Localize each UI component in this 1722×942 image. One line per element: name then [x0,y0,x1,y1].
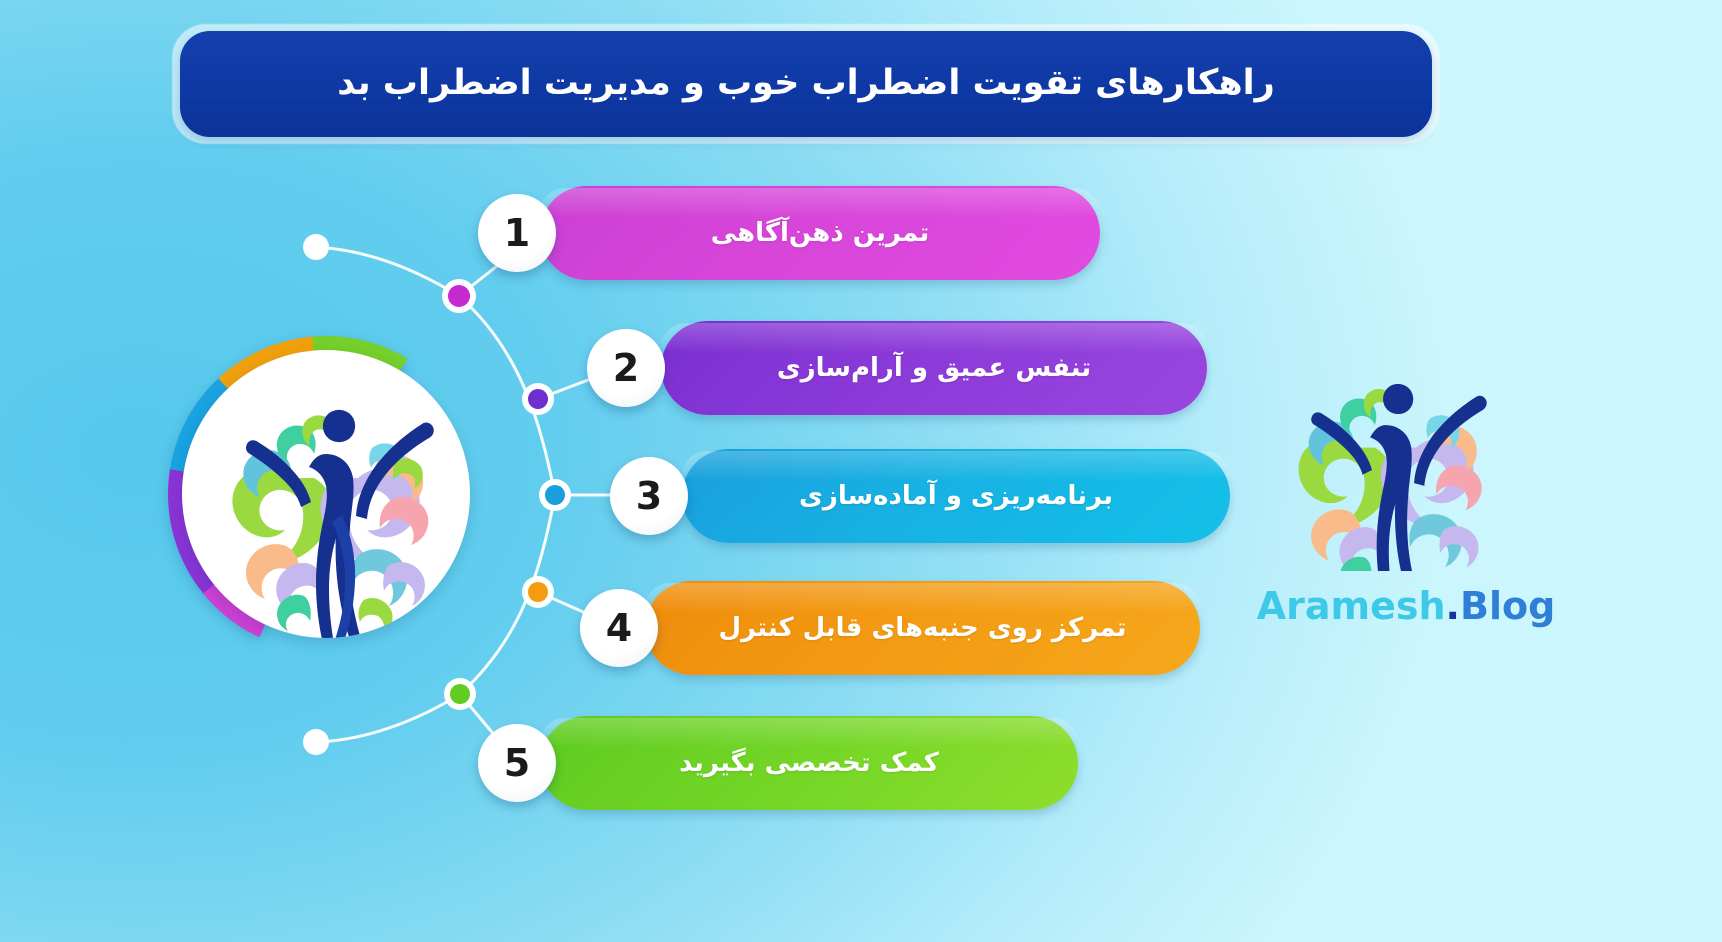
brand-name-part2: Blog [1460,584,1555,628]
step-number-3: 3 [610,457,688,535]
node-5 [444,678,476,710]
brand-name-dot: . [1446,584,1460,628]
infographic-canvas: راهکارهای تقویت اضطراب خوب و مدیریت اضطر… [0,0,1722,942]
step-number-5-value: 5 [504,741,530,785]
step-bar-2[interactable]: تنفس عمیق و آرام‌سازی [661,321,1207,415]
brand-name: Aramesh.Blog [1246,584,1566,628]
step-number-1-value: 1 [504,211,530,255]
step-label-3: برنامه‌ریزی و آماده‌سازی [799,481,1113,511]
brand-block: Aramesh.Blog [1246,356,1566,626]
endpoint-dot-top [303,234,329,260]
node-4 [522,576,554,608]
step-bar-4[interactable]: تمرکز روی جنبه‌های قابل کنترل [645,581,1200,675]
step-number-1: 1 [478,194,556,272]
brand-logo-icon [1246,356,1526,571]
page-title: راهکارهای تقویت اضطراب خوب و مدیریت اضطر… [297,62,1314,106]
step-label-4: تمرکز روی جنبه‌های قابل کنترل [719,613,1127,643]
brand-name-part1: Aramesh [1257,584,1446,628]
step-number-4: 4 [580,589,658,667]
step-bar-3[interactable]: برنامه‌ریزی و آماده‌سازی [682,449,1230,543]
person-tree-logo-icon [182,350,470,638]
step-bar-1[interactable]: تمرین ذهن‌آگاهی [540,186,1100,280]
step-row-1[interactable]: تمرین ذهن‌آگاهی 1 [478,186,1100,280]
step-label-5: کمک تخصصی بگیرید [679,748,939,778]
arc-5-left [316,694,460,742]
banner-body: راهکارهای تقویت اضطراب خوب و مدیریت اضطر… [180,31,1432,137]
step-number-2: 2 [587,329,665,407]
node-3 [539,479,571,511]
step-bar-5[interactable]: کمک تخصصی بگیرید [540,716,1078,810]
endpoint-dot-bottom [303,729,329,755]
arc-1-left [316,247,459,296]
step-row-3[interactable]: برنامه‌ریزی و آماده‌سازی 3 [610,449,1230,543]
step-number-5: 5 [478,724,556,802]
step-number-2-value: 2 [613,346,639,390]
badge-circle [168,336,484,652]
step-row-4[interactable]: تمرکز روی جنبه‌های قابل کنترل 4 [580,581,1200,675]
title-banner: راهکارهای تقویت اضطراب خوب و مدیریت اضطر… [172,24,1440,144]
step-label-2: تنفس عمیق و آرام‌سازی [777,353,1091,383]
node-1 [442,279,476,313]
node-2 [522,383,554,415]
step-number-3-value: 3 [636,474,662,518]
badge-disc [182,350,470,638]
step-row-2[interactable]: تنفس عمیق و آرام‌سازی 2 [587,321,1207,415]
step-row-5[interactable]: کمک تخصصی بگیرید 5 [478,716,1078,810]
step-label-1: تمرین ذهن‌آگاهی [711,218,929,248]
step-number-4-value: 4 [606,606,632,650]
